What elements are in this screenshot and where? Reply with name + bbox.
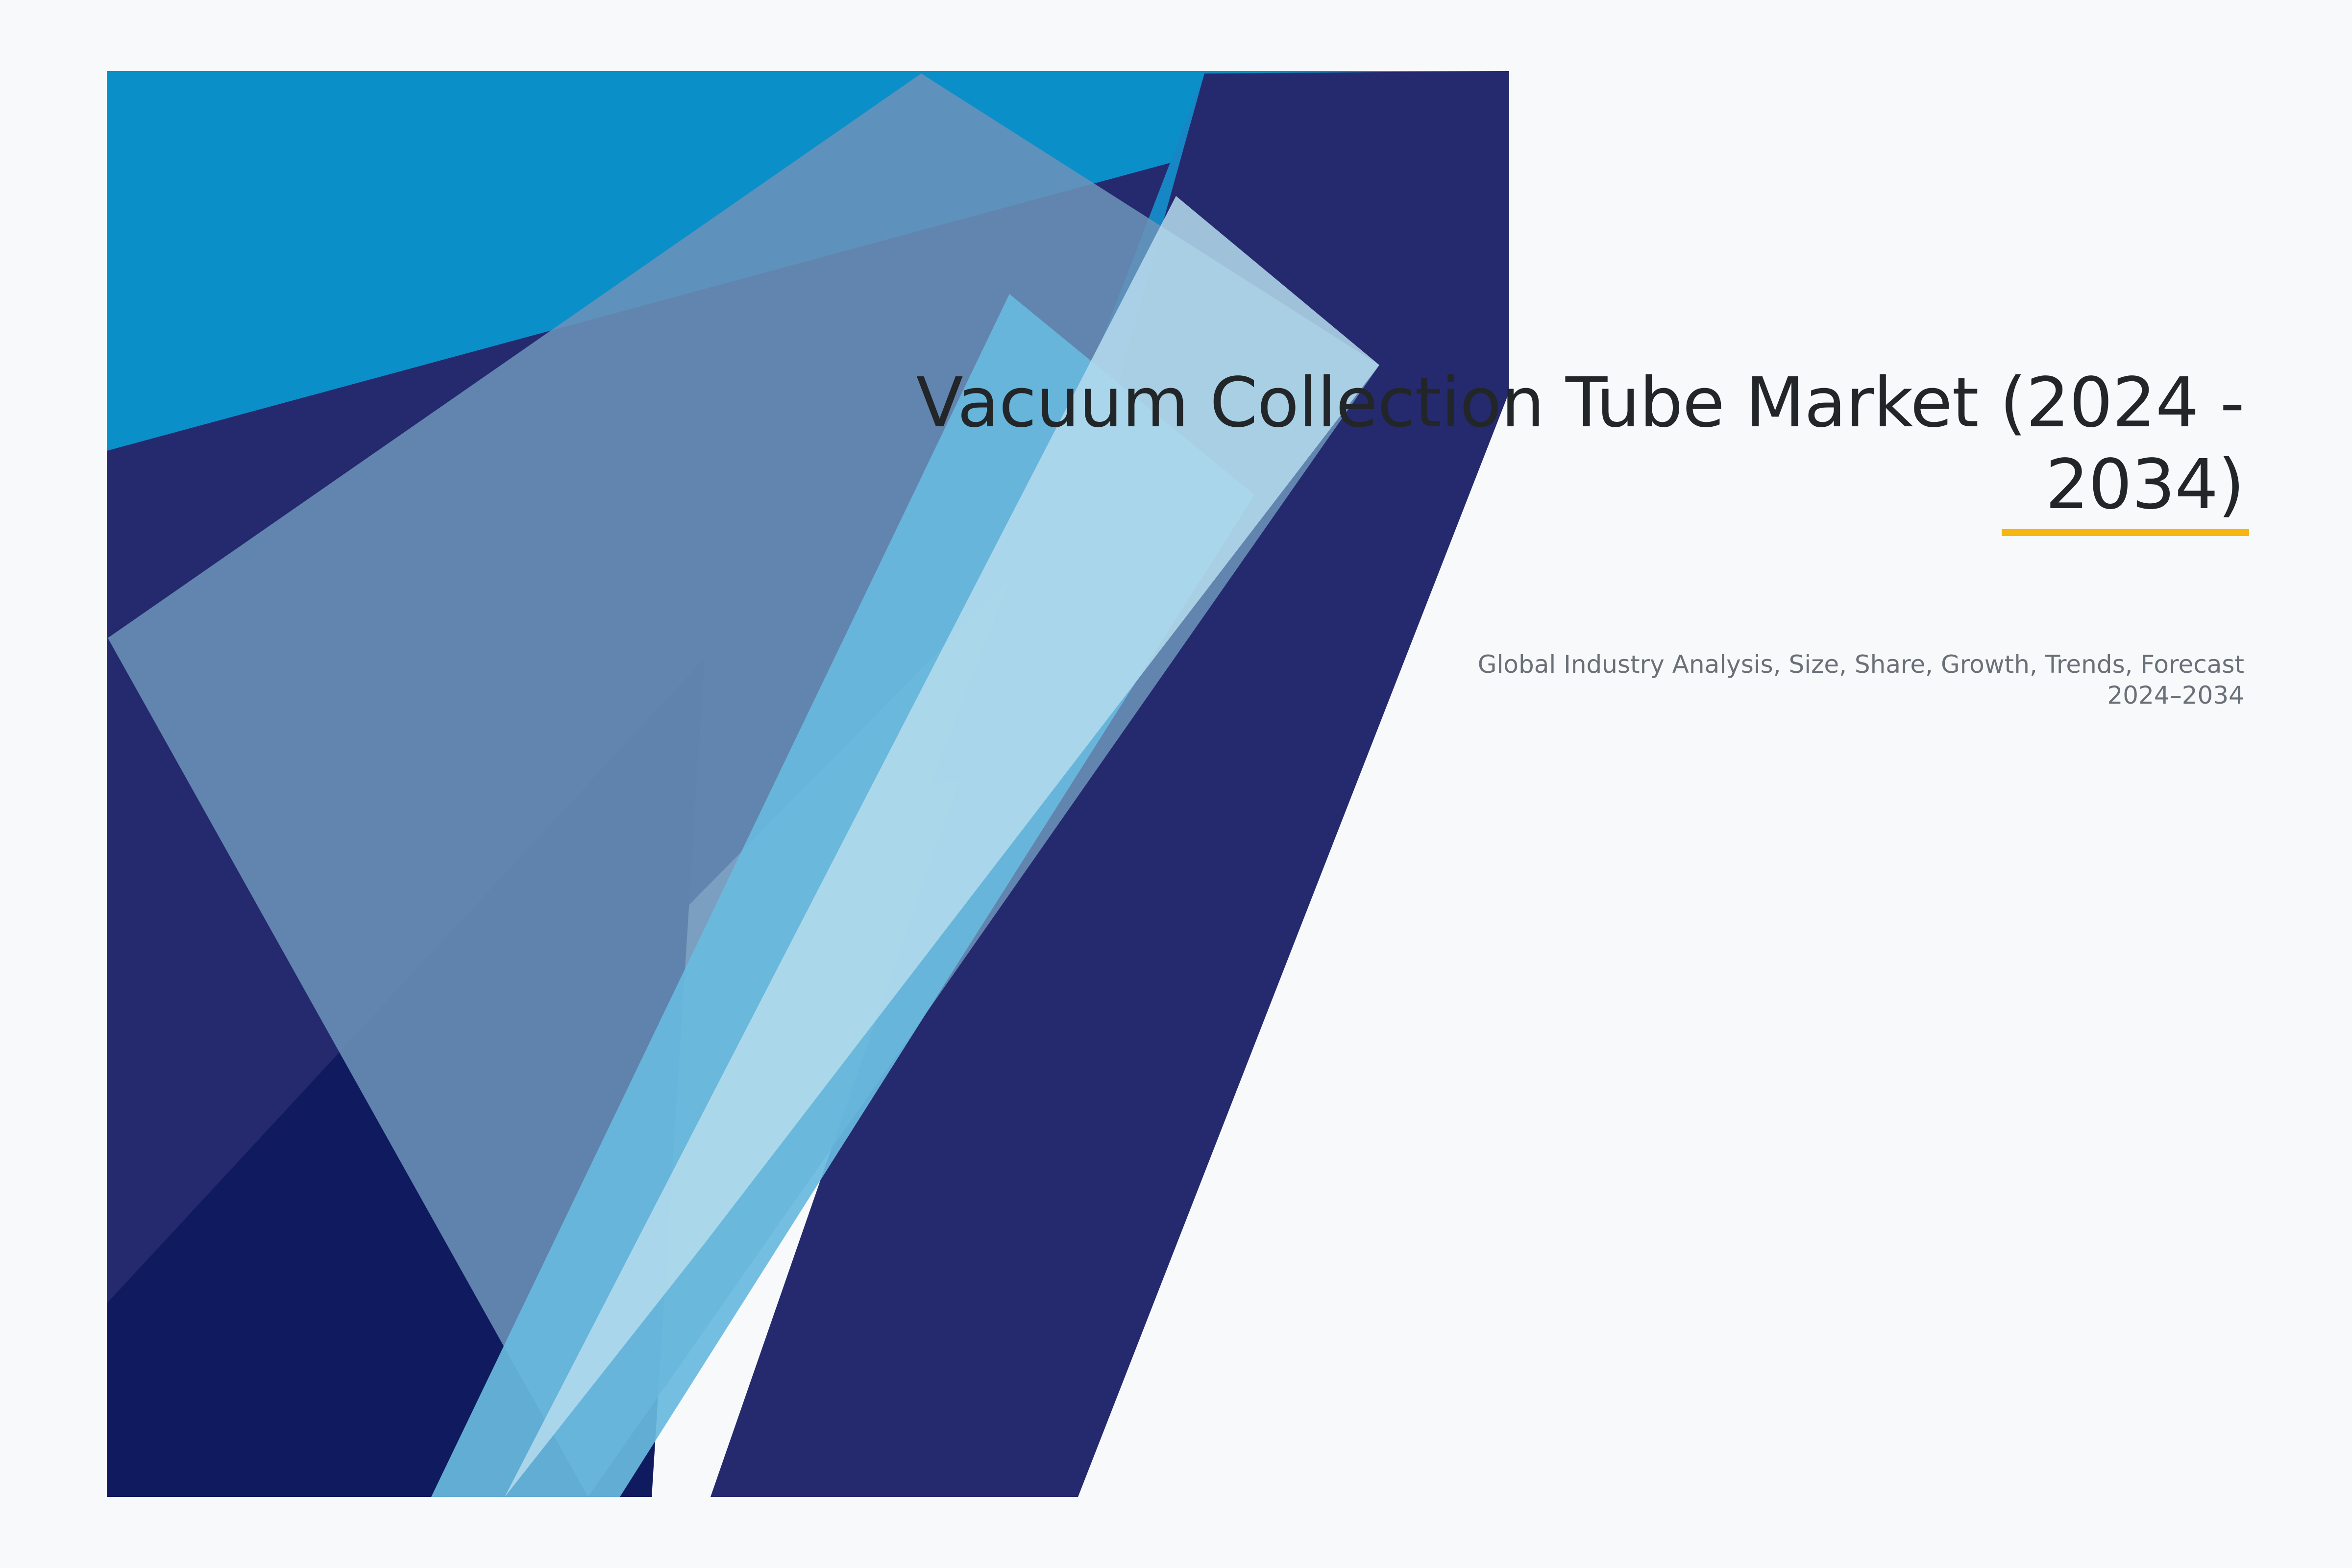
page-subtitle: Global Industry Analysis, Size, Share, G… <box>1460 649 2244 711</box>
cover-slide: Vacuum Collection Tube Market (2024 - 20… <box>0 0 2352 1568</box>
abstract-geometric-artwork <box>0 0 2352 1568</box>
shape-slate-quad <box>108 73 1379 1497</box>
shape-navy-field-right <box>710 71 1509 1497</box>
page-title: Vacuum Collection Tube Market (2024 - 20… <box>759 363 2244 526</box>
title-block: Vacuum Collection Tube Market (2024 - 20… <box>759 363 2244 526</box>
title-underline-accent <box>2002 529 2249 536</box>
shape-deep-navy-spike <box>107 658 705 1497</box>
shape-navy-wedge-top <box>107 71 1509 1497</box>
shape-azure-field <box>107 71 1509 1497</box>
